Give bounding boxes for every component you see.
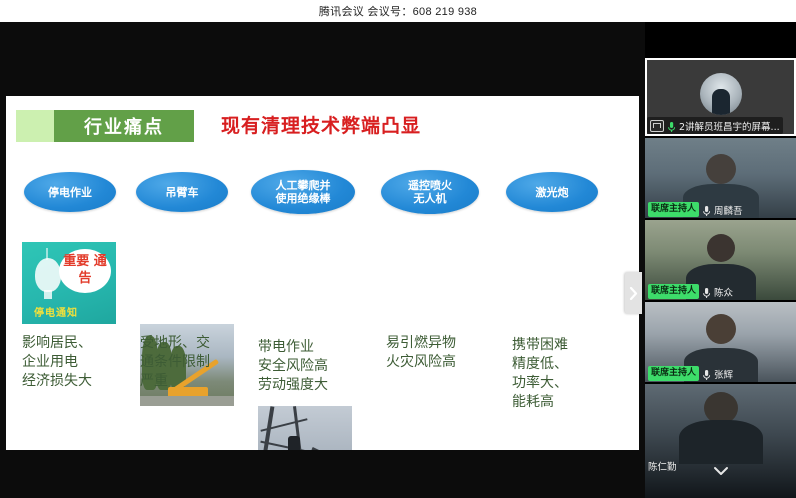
slide-heading: 现有清理技术弊端凸显 [221, 111, 421, 138]
poster-title: 重要 通告 [59, 253, 111, 287]
participant-video-rail[interactable]: 2讲解员班昌宇的屏幕... 联席主持人 周麟吾 联席主持人 [645, 22, 796, 498]
shared-screen-stage[interactable]: 行业痛点 现有清理技术弊端凸显 停电作业 吊臂车 人工攀爬并 使用绝缘棒 遥控喷… [0, 22, 645, 498]
lightbulb-icon [35, 258, 61, 292]
meeting-info-bar: 腾讯会议 会议号：608 219 938 [0, 0, 796, 22]
meeting-id-text: 腾讯会议 会议号：608 219 938 [319, 3, 477, 19]
illustration-row: 重要 通告 停电通知 [6, 242, 639, 334]
person-head [707, 234, 735, 262]
caption-bucket-truck: 受地形、交 通条件限制 严重 [140, 334, 258, 391]
avatar [700, 73, 742, 115]
method-pill-row: 停电作业 吊臂车 人工攀爬并 使用绝缘棒 遥控喷火 无人机 激光炮 [6, 172, 639, 220]
chevron-right-icon [629, 287, 638, 300]
participant-tile-1[interactable]: 联席主持人 周麟吾 [645, 138, 796, 218]
host-tag: 联席主持人 [648, 284, 699, 299]
caption-power-outage: 影响居民、 企业用电 经济损失大 [22, 334, 140, 391]
person-head [706, 314, 736, 344]
poster-footer: 停电通知 [34, 304, 78, 319]
speech-bubble: 重要 通告 [59, 249, 111, 293]
tile-name-label: 张辉 [714, 367, 733, 381]
person-head [706, 154, 736, 184]
caption-laser-cannon: 携带困难 精度低、 功率大、 能耗高 [512, 336, 632, 412]
host-tag: 联席主持人 [648, 366, 699, 381]
thumb-important-notice: 重要 通告 停电通知 [22, 242, 116, 324]
tile-namebar: 联席主持人 周麟吾 [645, 201, 746, 218]
person-body [679, 420, 763, 464]
mic-icon [702, 368, 711, 380]
pill-bucket-truck: 吊臂车 [136, 172, 228, 212]
presentation-slide: 行业痛点 现有清理技术弊端凸显 停电作业 吊臂车 人工攀爬并 使用绝缘棒 遥控喷… [6, 96, 639, 450]
slide-title-row: 行业痛点 现有清理技术弊端凸显 [16, 110, 626, 144]
caption-manual-climb: 带电作业 安全风险高 劳动强度大 [258, 338, 378, 395]
tile-namebar: 联席主持人 陈众 [645, 283, 736, 300]
section-badge: 行业痛点 [54, 110, 194, 142]
section-badge-label: 行业痛点 [84, 113, 164, 139]
participant-tile-4[interactable]: 陈仁勤 [645, 384, 796, 498]
panel-collapse-handle[interactable] [625, 272, 642, 314]
host-tag: 联席主持人 [648, 202, 699, 217]
tencent-meeting-window: 腾讯会议 会议号：608 219 938 行业痛点 现有清理技术弊端凸显 停电作… [0, 0, 796, 498]
caption-row: 影响居民、 企业用电 经济损失大 受地形、交 通条件限制 严重 带电作业 安全风… [6, 334, 639, 444]
tile-namebar: 联席主持人 张辉 [645, 365, 736, 382]
mic-icon [667, 120, 676, 132]
tile-namebar: 陈仁勤 [645, 457, 680, 474]
screen-share-icon [650, 120, 664, 132]
tile-name-label: 陈仁勤 [648, 459, 677, 473]
tile-namebar: 2讲解员班昌宇的屏幕... [647, 117, 783, 134]
pill-laser-cannon: 激光炮 [506, 172, 598, 212]
mic-icon [702, 286, 711, 298]
pill-power-outage: 停电作业 [24, 172, 116, 212]
pill-flame-drone: 遥控喷火 无人机 [381, 170, 479, 214]
tile-name-label: 2讲解员班昌宇的屏幕... [679, 119, 780, 133]
screen-share-tile[interactable]: 2讲解员班昌宇的屏幕... [645, 58, 796, 136]
pill-manual-climb: 人工攀爬并 使用绝缘棒 [251, 170, 355, 214]
chevron-down-icon [713, 463, 729, 481]
scroll-down-button[interactable] [710, 464, 732, 480]
tile-name-label: 周麟吾 [714, 203, 743, 217]
participant-tile-2[interactable]: 联席主持人 陈众 [645, 220, 796, 300]
caption-flame-drone: 易引燃异物 火灾风险高 [386, 334, 506, 372]
participant-tile-3[interactable]: 联席主持人 张辉 [645, 302, 796, 382]
tile-name-label: 陈众 [714, 285, 733, 299]
mic-icon [702, 204, 711, 216]
